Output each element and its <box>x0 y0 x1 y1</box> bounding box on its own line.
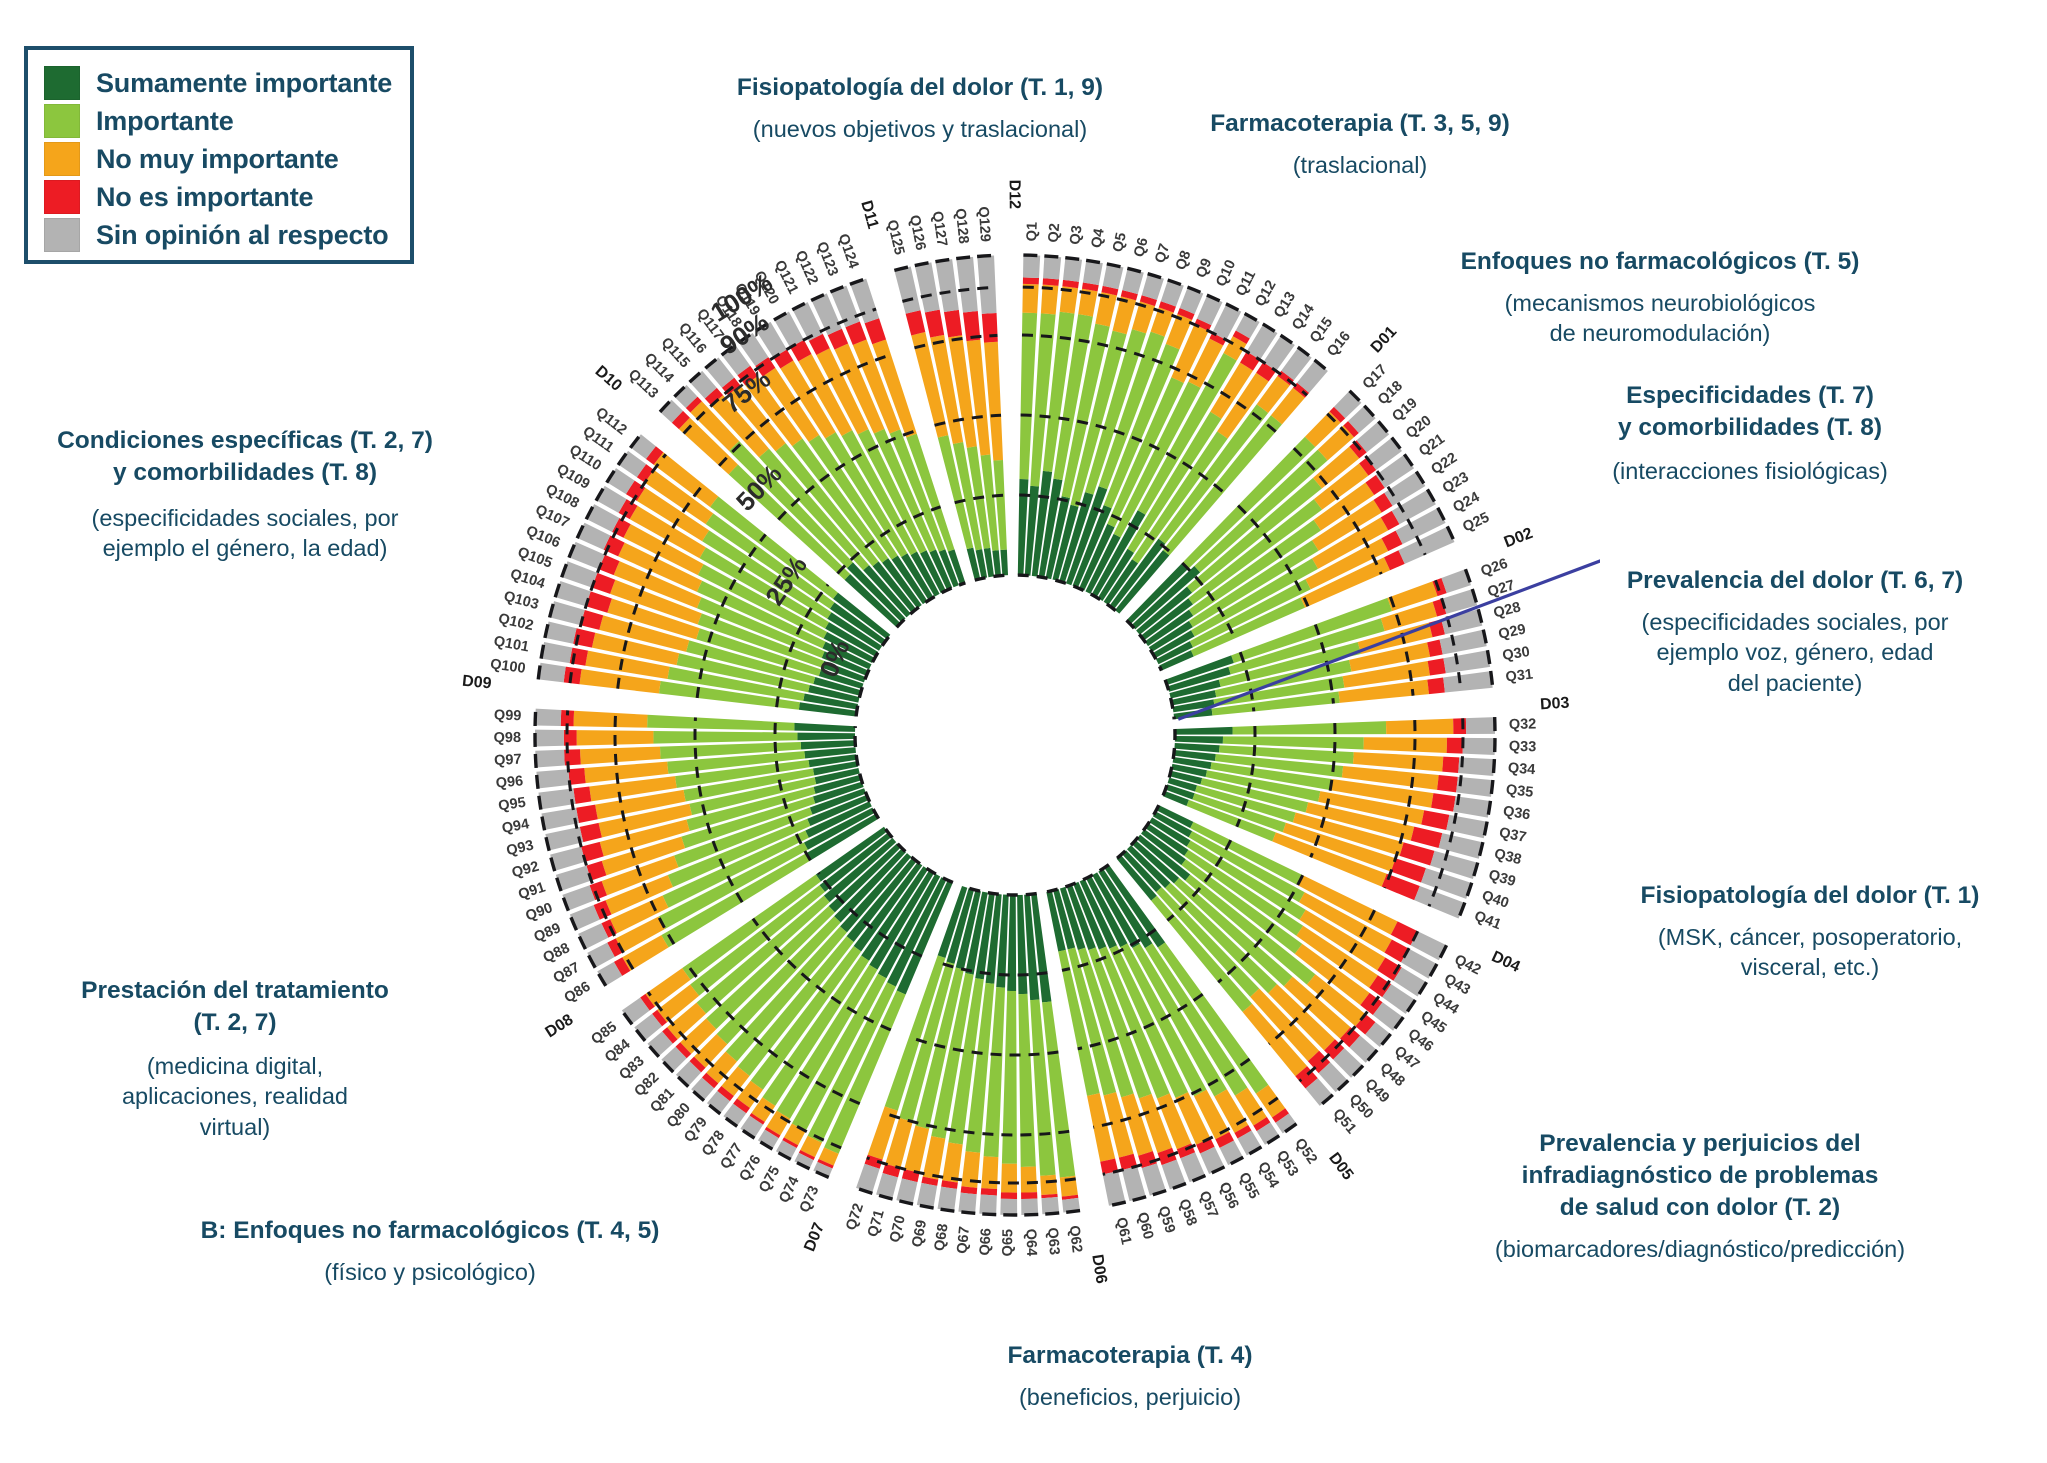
segment-no_es <box>1421 810 1449 830</box>
legend-swatch-no-muy <box>44 142 80 176</box>
question-label-q74: Q74 <box>776 1174 803 1206</box>
segment-no_muy <box>1040 1175 1057 1195</box>
annotation-d10-title2: (T. 2, 7) <box>50 1007 420 1039</box>
segment-sin_opinion <box>541 642 572 663</box>
segment-no_muy <box>1001 1164 1017 1193</box>
annotation-d04-title1: Especificidades (T. 7) <box>1540 380 1960 412</box>
segment-no_es <box>925 310 944 338</box>
segment-sin_opinion <box>1443 650 1490 673</box>
question-label-q7: Q7 <box>1152 242 1173 265</box>
segment-importante <box>1002 991 1017 1164</box>
chart-page: Sumamente importante Importante No muy i… <box>0 0 2047 1463</box>
segment-sin_opinion <box>538 663 566 683</box>
domain-label-d07: D07 <box>801 1220 828 1254</box>
question-label-q62: Q62 <box>1066 1225 1085 1254</box>
question-label-q61: Q61 <box>1113 1216 1134 1246</box>
segment-sin_opinion <box>956 257 977 313</box>
legend-label-sin-opinion: Sin opinión al respecto <box>96 220 388 251</box>
question-label-q101: Q101 <box>492 633 530 655</box>
segment-sumamente <box>794 723 855 732</box>
question-label-q24: Q24 <box>1451 489 1483 516</box>
question-label-q96: Q96 <box>495 773 524 792</box>
question-label-q10: Q10 <box>1213 258 1239 290</box>
question-label-q91: Q91 <box>516 879 547 903</box>
segment-sin_opinion <box>1043 256 1061 280</box>
bars-layer <box>535 255 1495 1215</box>
segment-sin_opinion <box>1021 1198 1038 1214</box>
segment-sin_opinion <box>1063 258 1082 282</box>
question-label-q39: Q39 <box>1487 867 1518 890</box>
legend-item-sin-opinion: Sin opinión al respecto <box>44 216 400 254</box>
annotation-d08-sub: (beneficios, perjuicio) <box>930 1382 1330 1413</box>
segment-no_es <box>586 591 612 612</box>
annotation-d06-sub2: visceral, etc.) <box>1590 952 2030 983</box>
segment-no_es <box>1023 277 1039 284</box>
question-label-q57: Q57 <box>1196 1189 1221 1220</box>
annotation-d10-title1: Prestación del tratamiento <box>50 975 420 1007</box>
segment-sin_opinion <box>958 1193 976 1214</box>
segment-no_es <box>573 786 591 803</box>
question-label-q127: Q127 <box>929 210 950 247</box>
question-label-q94: Q94 <box>501 816 531 837</box>
segment-sumamente <box>1007 895 1016 991</box>
annotation-d05: Prevalencia del dolor (T. 6, 7) (especif… <box>1570 565 2020 698</box>
question-label-q8: Q8 <box>1173 249 1195 273</box>
annotation-d11-sub1: (especificidades sociales, por <box>10 503 480 534</box>
annotation-d01: Fisiopatología del dolor (T. 1, 9) (nuev… <box>690 72 1150 144</box>
segment-sumamente <box>797 733 855 741</box>
segment-no_es <box>1427 677 1445 694</box>
question-label-q63: Q63 <box>1044 1227 1062 1256</box>
question-label-q73: Q73 <box>797 1184 823 1216</box>
question-label-q92: Q92 <box>510 859 541 882</box>
question-label-q29: Q29 <box>1497 622 1527 643</box>
segment-sin_opinion <box>935 259 958 312</box>
question-label-q5: Q5 <box>1110 231 1130 253</box>
domain-label-d06: D06 <box>1088 1253 1109 1285</box>
question-label-q70: Q70 <box>887 1214 909 1244</box>
annotation-d10-sub3: virtual) <box>50 1112 420 1143</box>
question-label-q40: Q40 <box>1480 888 1511 912</box>
question-label-q98: Q98 <box>494 730 522 746</box>
annotation-d02-title: Farmacoterapia (T. 3, 5, 9) <box>1160 108 1560 140</box>
segment-sin_opinion <box>550 601 585 625</box>
segment-no_es <box>981 1188 997 1195</box>
domain-label-d02: D02 <box>1502 525 1536 552</box>
question-label-q41: Q41 <box>1472 908 1503 933</box>
legend-label-sumamente: Sumamente importante <box>96 68 392 99</box>
question-label-q97: Q97 <box>494 752 522 769</box>
segment-no_es <box>1447 738 1463 754</box>
question-label-q37: Q37 <box>1498 825 1528 846</box>
segment-sin_opinion <box>938 1187 957 1212</box>
question-label-q35: Q35 <box>1505 782 1534 801</box>
domain-label-d04: D04 <box>1489 948 1523 976</box>
question-label-q86: Q86 <box>562 979 594 1007</box>
question-label-q102: Q102 <box>497 611 535 634</box>
segment-no_es <box>581 610 604 630</box>
segment-no_es <box>865 318 886 344</box>
question-label-q38: Q38 <box>1493 846 1523 868</box>
question-label-q100: Q100 <box>489 656 526 677</box>
question-label-q36: Q36 <box>1502 803 1532 823</box>
segment-sin_opinion <box>535 709 561 726</box>
question-label-q67: Q67 <box>954 1226 973 1255</box>
segment-no_es <box>576 805 598 823</box>
domain-label-d03: D03 <box>1540 695 1570 714</box>
question-label-q58: Q58 <box>1175 1197 1199 1228</box>
segment-sin_opinion <box>1103 264 1124 289</box>
question-label-q60: Q60 <box>1134 1211 1156 1242</box>
segment-sin_opinion <box>1463 738 1495 755</box>
annotation-d10-sub2: aplicaciones, realidad <box>50 1081 420 1112</box>
annotation-d11: Condiciones específicas (T. 2, 7) y como… <box>10 425 480 564</box>
question-label-q69: Q69 <box>909 1219 930 1249</box>
question-label-q3: Q3 <box>1067 225 1085 246</box>
segment-sin_opinion <box>545 621 577 643</box>
question-label-q66: Q66 <box>977 1228 995 1256</box>
question-label-q99: Q99 <box>494 707 522 724</box>
question-label-q32: Q32 <box>1509 717 1537 734</box>
domain-label-d10: D10 <box>592 363 625 395</box>
question-label-q25: Q25 <box>1460 510 1492 536</box>
question-label-q2: Q2 <box>1046 223 1063 244</box>
segment-sin_opinion <box>979 1195 997 1215</box>
domain-label-d11: D11 <box>857 199 881 231</box>
legend-item-importante: Importante <box>44 102 400 140</box>
question-label-q104: Q104 <box>508 566 547 592</box>
segment-no_muy <box>580 747 661 765</box>
circular-stacked-bar-chart: Q1Q2Q3Q4Q5Q6Q7Q8Q9Q10Q11Q12Q13Q14Q15Q16Q… <box>430 150 1600 1320</box>
annotation-d10: Prestación del tratamiento (T. 2, 7) (me… <box>50 975 420 1142</box>
segment-no_es <box>1437 775 1458 792</box>
segment-no_es <box>1428 658 1446 675</box>
domain-label-d12: D12 <box>1006 180 1023 209</box>
segment-no_es <box>1411 827 1443 848</box>
question-label-q126: Q126 <box>906 214 929 252</box>
segment-sin_opinion <box>545 827 583 851</box>
question-label-q89: Q89 <box>532 920 563 945</box>
segment-no_muy <box>981 1156 998 1189</box>
segment-sin_opinion <box>1000 1199 1017 1215</box>
legend-label-no-muy: No muy importante <box>96 144 339 175</box>
question-label-q56: Q56 <box>1216 1180 1242 1212</box>
annotation-d10-sub1: (medicina digital, <box>50 1051 420 1082</box>
annotation-d04-sub: (interacciones fisiológicas) <box>1540 456 1960 487</box>
legend-label-no-es: No es importante <box>96 182 313 213</box>
question-label-q28: Q28 <box>1492 599 1523 621</box>
segment-sumamente <box>992 550 1001 576</box>
annotation-d04-title2: y comorbilidades (T. 8) <box>1540 412 1960 444</box>
segment-importante <box>647 715 794 731</box>
question-label-q55: Q55 <box>1235 1170 1262 1202</box>
annotation-d05-sub3: del paciente) <box>1570 668 2020 699</box>
question-label-q6: Q6 <box>1131 236 1151 259</box>
legend-swatch-sin-opinion <box>44 218 80 252</box>
annotation-d06-sub1: (MSK, cáncer, posoperatorio, <box>1590 922 2030 953</box>
domain-label-d01: D01 <box>1368 323 1401 356</box>
legend-swatch-sumamente <box>44 66 80 100</box>
segment-sin_opinion <box>535 730 564 747</box>
legend-swatch-no-es <box>44 180 80 214</box>
segment-sin_opinion <box>1083 260 1103 285</box>
question-label-q125: Q125 <box>883 218 907 256</box>
question-label-q68: Q68 <box>932 1223 952 1252</box>
question-label-q65: Q65 <box>1000 1229 1016 1257</box>
question-label-q31: Q31 <box>1505 667 1534 686</box>
segment-sin_opinion <box>550 847 585 871</box>
annotation-d08-title: Farmacoterapia (T. 4) <box>930 1340 1330 1372</box>
question-label-q103: Q103 <box>502 588 540 613</box>
annotation-d11-title2: y comorbilidades (T. 8) <box>10 457 480 489</box>
segment-sin_opinion <box>538 788 575 809</box>
segment-sin_opinion <box>536 769 569 788</box>
legend-swatch-importante <box>44 104 80 138</box>
question-label-q128: Q128 <box>952 208 972 245</box>
question-label-q30: Q30 <box>1501 644 1531 664</box>
annotation-d08: Farmacoterapia (T. 4) (beneficios, perju… <box>930 1340 1330 1412</box>
segment-sumamente <box>1000 550 1008 576</box>
annotation-d06-title: Fisiopatología del dolor (T. 1) <box>1590 880 2030 912</box>
segment-sin_opinion <box>1466 717 1495 734</box>
annotation-d04: Especificidades (T. 7) y comorbilidades … <box>1540 380 1960 486</box>
question-label-q9: Q9 <box>1193 256 1215 280</box>
segment-sin_opinion <box>1443 671 1493 692</box>
segment-sin_opinion <box>917 1183 937 1208</box>
segment-no_es <box>580 823 602 842</box>
question-label-q95: Q95 <box>497 795 526 815</box>
annotation-d06: Fisiopatología del dolor (T. 1) (MSK, cá… <box>1590 880 2030 983</box>
legend-label-importante: Importante <box>96 106 234 137</box>
segment-no_es <box>1021 1192 1037 1199</box>
segment-no_muy <box>1021 1166 1037 1192</box>
segment-no_es <box>1442 757 1459 773</box>
segment-no_muy <box>942 1142 963 1182</box>
segment-sin_opinion <box>1122 1166 1146 1201</box>
annotation-d01-sub: (nuevos objetivos y traslacional) <box>690 114 1150 145</box>
segment-sin_opinion <box>1023 255 1040 278</box>
segment-sin_opinion <box>535 750 565 768</box>
question-label-q33: Q33 <box>1509 739 1537 756</box>
question-label-q64: Q64 <box>1022 1229 1039 1257</box>
annotation-d01-title: Fisiopatología del dolor (T. 1, 9) <box>690 72 1150 104</box>
gridline-0 <box>962 886 1037 895</box>
question-label-q71: Q71 <box>865 1208 888 1239</box>
segment-no_es <box>1431 793 1455 811</box>
segment-no_es <box>1001 1192 1017 1199</box>
segment-no_muy <box>1386 719 1453 735</box>
legend: Sumamente importante Importante No muy i… <box>24 46 414 264</box>
segment-no_es <box>982 313 998 343</box>
question-label-q1: Q1 <box>1024 222 1041 242</box>
segment-no_es <box>564 667 582 685</box>
annotation-d05-sub1: (especificidades sociales, por <box>1570 607 2020 638</box>
question-label-q129: Q129 <box>975 206 993 242</box>
domain-label-d08: D08 <box>543 1011 577 1041</box>
question-label-q90: Q90 <box>524 900 555 925</box>
annotation-d05-title: Prevalencia del dolor (T. 6, 7) <box>1570 565 2020 597</box>
annotation-d11-title1: Condiciones específicas (T. 2, 7) <box>10 425 480 457</box>
question-label-q34: Q34 <box>1507 760 1535 778</box>
question-label-q4: Q4 <box>1089 227 1108 249</box>
segment-sin_opinion <box>1103 1171 1126 1206</box>
question-label-q93: Q93 <box>505 838 535 860</box>
question-label-q72: Q72 <box>843 1201 867 1232</box>
segment-no_muy <box>573 711 647 728</box>
legend-item-no-es: No es importante <box>44 178 400 216</box>
segment-sumamente <box>1175 736 1223 744</box>
domain-label-d09: D09 <box>461 673 492 693</box>
question-label-q26: Q26 <box>1479 556 1510 580</box>
annotation-d11-sub2: ejemplo el género, la edad) <box>10 533 480 564</box>
legend-item-sumamente: Sumamente importante <box>44 64 400 102</box>
segment-no_muy <box>1363 737 1446 753</box>
segment-sumamente <box>1175 727 1233 735</box>
segment-no_es <box>1043 278 1059 286</box>
segment-no_es <box>906 310 926 335</box>
segment-sin_opinion <box>896 1178 917 1204</box>
question-label-q105: Q105 <box>515 544 554 571</box>
annotation-d05-sub2: ejemplo voz, género, edad <box>1570 637 2020 668</box>
legend-item-no-muy: No muy importante <box>44 140 400 178</box>
question-label-q59: Q59 <box>1155 1204 1178 1235</box>
segment-no_es <box>944 310 962 337</box>
domain-label-d05: D05 <box>1325 1150 1356 1184</box>
segment-sin_opinion <box>541 808 579 830</box>
segment-sin_opinion <box>977 255 996 313</box>
